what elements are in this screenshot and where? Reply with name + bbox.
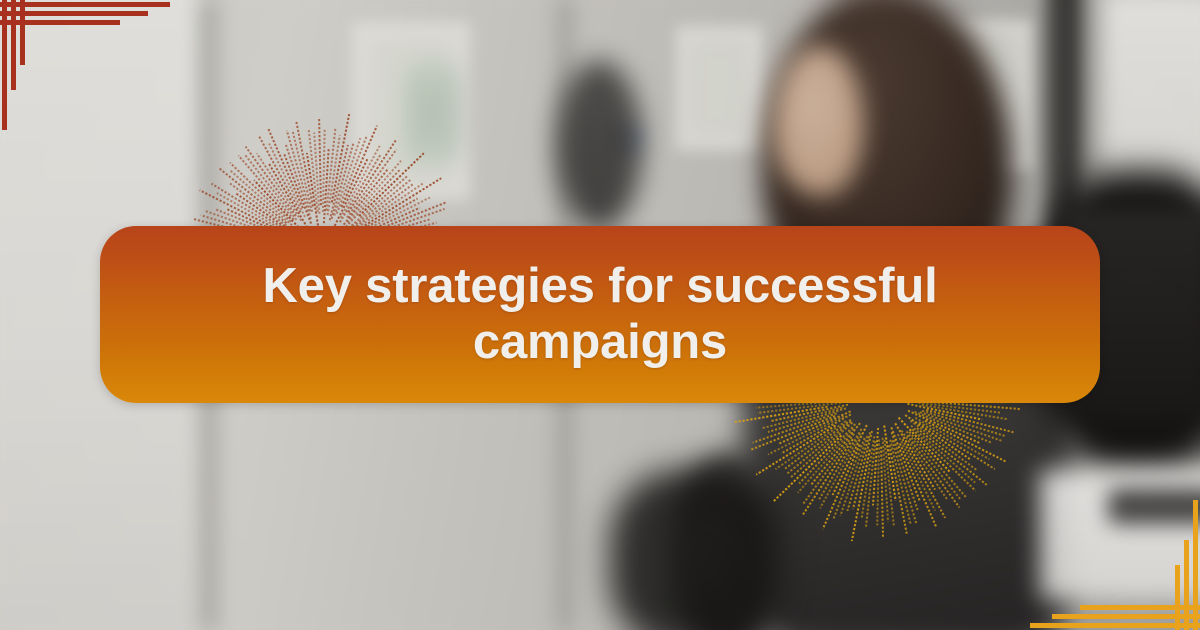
page-title: Key strategies for successful campaigns — [160, 259, 1040, 371]
green-art-accent — [404, 58, 464, 168]
person-face — [772, 46, 864, 196]
title-banner: Key strategies for successful campaigns — [100, 226, 1100, 403]
social-card: Key strategies for successful campaigns — [0, 0, 1200, 630]
person-raised-arm — [556, 60, 642, 230]
wall-frame-2-art — [692, 42, 746, 134]
desk-object — [1108, 488, 1200, 524]
dark-mass-bottom — [610, 470, 780, 630]
